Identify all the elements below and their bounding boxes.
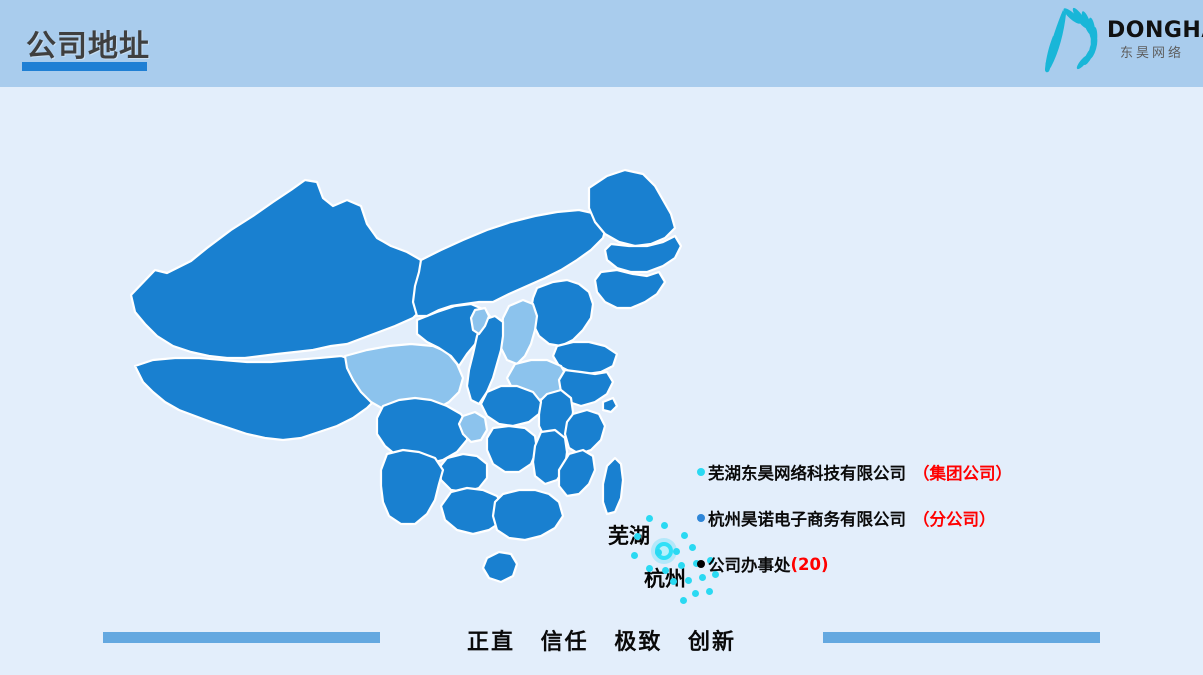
office-dot[interactable] (689, 544, 696, 551)
office-dot[interactable] (692, 590, 699, 597)
page-header: 公司地址 (0, 0, 1203, 87)
slogan-word-3: 极致 (614, 630, 662, 655)
legend-label: 芜湖东昊网络科技有限公司 (708, 460, 906, 484)
slogan-word-4: 创新 (688, 630, 736, 655)
office-dot[interactable] (685, 577, 692, 584)
footer-slogan: 正直 信任 极致 创新 (0, 624, 1203, 656)
province-hebei (531, 280, 593, 346)
page-title: 公司地址 (26, 21, 150, 65)
province-hubei (481, 386, 541, 426)
office-dot[interactable] (631, 552, 638, 559)
office-dot[interactable] (646, 515, 653, 522)
legend-tag: (20) (791, 555, 829, 574)
office-dot[interactable] (646, 565, 653, 572)
province-guangdong (493, 490, 563, 540)
office-dot[interactable] (662, 567, 669, 574)
legend-label: 公司办事处 (708, 552, 791, 576)
brand-logo: DONGHAO 东昊网络 (1025, 6, 1195, 76)
feather-fan-icon (1033, 6, 1111, 74)
legend-label: 杭州昊诺电子商务有限公司 (708, 506, 906, 530)
legend-item-offices: 公司办事处 (20) (697, 552, 1027, 576)
logo-name: DONGHAO (1107, 20, 1197, 42)
legend-item-branch-company: 杭州昊诺电子商务有限公司 （分公司） (697, 506, 1027, 530)
province-tibet (135, 356, 381, 440)
logo-subtitle: 东昊网络 (1107, 47, 1197, 60)
legend-bullet-cyan (697, 468, 705, 476)
legend-bullet-blue (697, 514, 705, 522)
province-xinjiang (131, 180, 447, 358)
office-dot[interactable] (670, 578, 677, 585)
legend: 芜湖东昊网络科技有限公司 （集团公司） 杭州昊诺电子商务有限公司 （分公司） 公… (697, 460, 1027, 576)
province-taiwan (603, 458, 623, 514)
province-yunnan (381, 450, 443, 524)
office-dot[interactable] (661, 522, 668, 529)
legend-item-group-company: 芜湖东昊网络科技有限公司 （集团公司） (697, 460, 1027, 484)
province-guizhou (439, 454, 487, 492)
office-dot[interactable] (678, 562, 685, 569)
logo-text-block: DONGHAO 东昊网络 (1107, 20, 1197, 60)
title-underline (22, 62, 147, 71)
legend-tag: （分公司） (913, 506, 996, 530)
office-dot[interactable] (706, 588, 713, 595)
office-dot[interactable] (634, 533, 641, 540)
office-dot[interactable] (680, 597, 687, 604)
china-map: 芜湖 杭州 (95, 120, 735, 620)
office-dot[interactable] (681, 532, 688, 539)
province-hainan (483, 552, 517, 582)
legend-tag: （集团公司） (913, 460, 1012, 484)
province-hunan (487, 426, 537, 472)
province-liaoning (595, 270, 665, 308)
city-label-wuhu: 芜湖 (608, 520, 650, 550)
slogan-word-1: 正直 (467, 630, 515, 655)
office-dot[interactable] (673, 548, 680, 555)
legend-bullet-black (697, 560, 705, 568)
province-shanxi (501, 300, 537, 364)
office-dot[interactable] (655, 549, 662, 556)
slogan-word-2: 信任 (541, 630, 589, 655)
province-zhejiang (565, 410, 605, 454)
province-shanghai (603, 398, 617, 412)
